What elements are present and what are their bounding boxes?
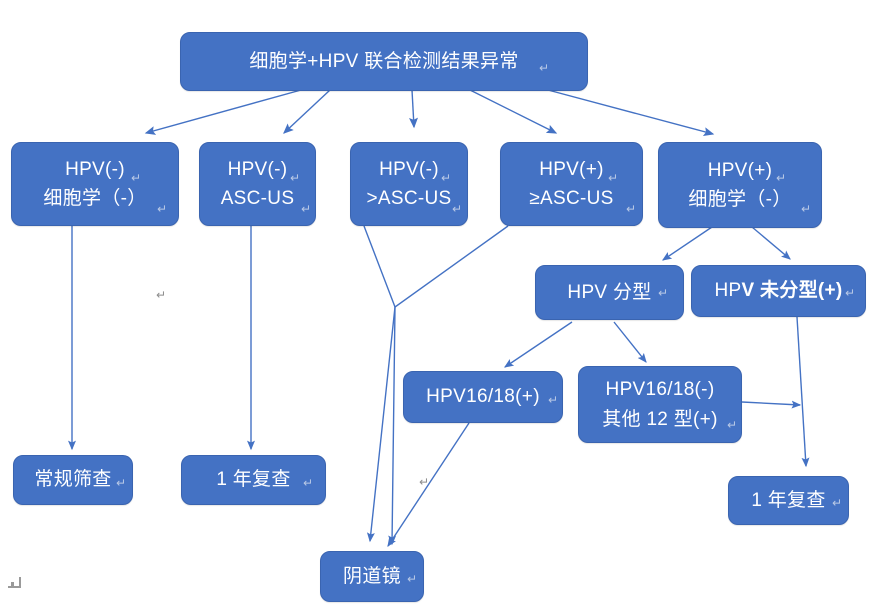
paragraph-mark-hpvpos-cyto-1: ↵ [776, 172, 786, 184]
node-line-2: 细胞学（-） [43, 184, 146, 213]
node-hpv16-18-negative-other12-positive[interactable]: HPV16/18(-) 其他 12 型(+) [578, 366, 742, 443]
edge-root-to-hpvneg-gt [412, 90, 414, 127]
edge-hpv1618neg-to-recheck2 [742, 402, 800, 405]
paragraph-mark-root: ↵ [539, 62, 549, 74]
edge-genotype-to-hpv1618neg [614, 322, 646, 362]
edge-root-to-hpvpos-cyto [548, 90, 713, 134]
node-line-2: ASC-US [221, 184, 295, 213]
edge-hpvpos-cyto-to-nogenotype [752, 227, 790, 259]
node-line-1: 1 年复查 [216, 465, 290, 494]
paragraph-mark-routine: ↵ [116, 477, 126, 489]
node-line-2: 其他 12 型(+) [602, 405, 717, 434]
node-one-year-recheck-right[interactable]: 1 年复查 [728, 476, 849, 525]
paragraph-mark-hpv1618pos: ↵ [548, 394, 558, 406]
paragraph-mark-hpvneg-gt-2: ↵ [452, 203, 462, 215]
paragraph-mark-canvas-1: ↵ [156, 289, 166, 301]
edge-root-to-hpvneg-asc [284, 90, 330, 133]
flowchart-canvas: 细胞学+HPV 联合检测结果异常 ↵ HPV(-) 细胞学（-） ↵ ↵ HPV… [0, 0, 878, 613]
node-line-1: HPV16/18(-) [606, 375, 715, 404]
paragraph-mark-hpv1618neg: ↵ [727, 419, 737, 431]
paragraph-mark-hpvneg-cyto-1: ↵ [131, 172, 141, 184]
node-line-2: 细胞学（-） [688, 185, 791, 214]
node-line-1: 阴道镜 [343, 562, 401, 591]
edge-root-to-hpvpos-ge [470, 90, 556, 133]
paragraph-mark-colposcopy: ↵ [407, 573, 417, 585]
paragraph-mark-hpvneg-gt-1: ↵ [441, 172, 451, 184]
node-hpv-negative-cytology-negative[interactable]: HPV(-) 细胞学（-） [11, 142, 179, 226]
page-corner-mark [8, 576, 22, 588]
paragraph-mark-hpvpos-ge-2: ↵ [626, 203, 636, 215]
edge-hpvneg-gt-to-colposcopy [364, 226, 395, 541]
edge-nogenotype-to-recheck2 [797, 317, 806, 466]
node-line-1: HPV(-) [228, 155, 288, 184]
node-line-1: 常规筛查 [34, 465, 111, 494]
edge-root-to-hpvneg-cyto [146, 90, 301, 133]
node-line-1: HPV(-) [379, 155, 439, 184]
node-line-1: 1 年复查 [751, 486, 825, 515]
node-line-1: HPV(+) [708, 156, 773, 185]
node-hpv-positive-ge-ascus[interactable]: HPV(+) ≥ASC-US [500, 142, 643, 226]
paragraph-mark-recheck1: ↵ [303, 477, 313, 489]
node-line-1: HPV(-) [65, 155, 125, 184]
edge-hpvpos-cyto-to-genotype [663, 227, 712, 260]
paragraph-mark-hpvneg-asc-1: ↵ [290, 172, 300, 184]
paragraph-mark-hpvneg-cyto-2: ↵ [157, 203, 167, 215]
node-line-1: HPV 未分型(+) [714, 276, 842, 305]
paragraph-mark-hpvpos-cyto-2: ↵ [801, 203, 811, 215]
node-line-2: >ASC-US [367, 184, 452, 213]
paragraph-mark-canvas-2: ↵ [419, 476, 429, 488]
paragraph-mark-recheck2: ↵ [832, 497, 842, 509]
node-line-2: ≥ASC-US [529, 184, 613, 213]
node-line-1: HPV(+) [539, 155, 604, 184]
edge-genotype-to-hpv1618pos [505, 322, 572, 367]
node-hpv-untyped-positive[interactable]: HPV 未分型(+) [691, 265, 866, 317]
node-line-1: HPV 分型 [567, 278, 651, 307]
node-hpv16-18-positive[interactable]: HPV16/18(+) [403, 371, 563, 423]
paragraph-mark-hpvpos-ge-1: ↵ [608, 172, 618, 184]
paragraph-mark-hpvneg-asc-2: ↵ [301, 203, 311, 215]
node-root[interactable]: 细胞学+HPV 联合检测结果异常 [180, 32, 588, 91]
node-line-1: HPV16/18(+) [426, 382, 540, 411]
paragraph-mark-nogenotype: ↵ [845, 287, 855, 299]
node-root-line-1: 细胞学+HPV 联合检测结果异常 [249, 47, 518, 76]
paragraph-mark-genotype: ↵ [658, 287, 668, 299]
node-routine-screening[interactable]: 常规筛查 [13, 455, 133, 505]
node-hpv-positive-cytology-negative[interactable]: HPV(+) 细胞学（-） [658, 142, 822, 228]
